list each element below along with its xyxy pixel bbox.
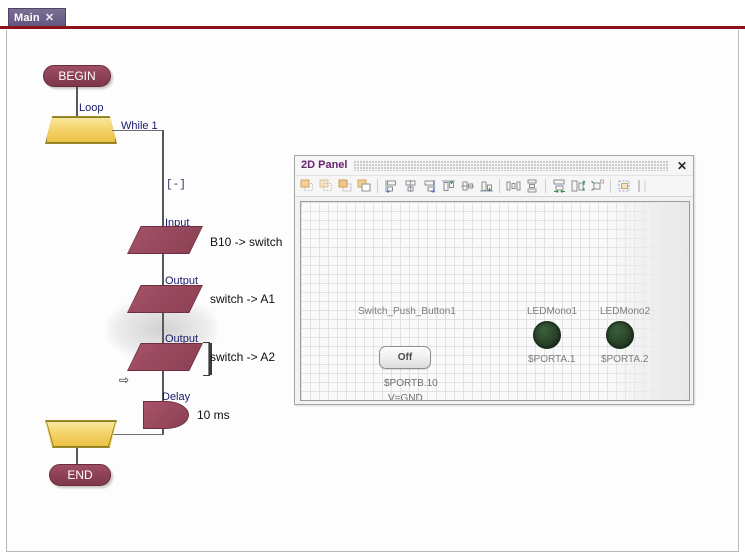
toolbar-separator — [377, 179, 378, 193]
make-same-width-icon[interactable] — [550, 178, 568, 195]
loop-end-block-fill — [47, 422, 115, 446]
send-to-back-icon[interactable] — [317, 178, 335, 195]
make-same-height-icon[interactable] — [569, 178, 587, 195]
2d-panel-toolbar[interactable] — [295, 176, 693, 197]
tab-strip-rule — [0, 26, 745, 29]
size-to-grid-icon[interactable] — [615, 178, 633, 195]
bring-forward-icon[interactable] — [336, 178, 354, 195]
widget-label-switch-push-button1: Switch_Push_Button1 — [358, 307, 456, 317]
toolbar-separator — [545, 179, 546, 193]
send-backward-icon[interactable] — [355, 178, 373, 195]
delay-block-fill — [144, 402, 188, 428]
loop-label: Loop — [79, 103, 103, 114]
toolbar-separator — [610, 179, 611, 193]
switch-push-button1[interactable]: Off — [379, 346, 431, 369]
2d-panel-title: 2D Panel — [301, 160, 347, 171]
drag-handle-cursor-icon: ⇨ — [119, 374, 129, 386]
connector-output1-to-output2 — [162, 313, 164, 345]
align-center-horizontal-icon[interactable] — [401, 178, 419, 195]
flowchart-loop-end-block[interactable] — [45, 420, 117, 448]
connector-loopback-horizontal — [111, 434, 164, 435]
align-left-icon[interactable] — [382, 178, 400, 195]
tab-strip: Main ✕ — [0, 0, 745, 28]
flowchart-canvas[interactable]: BEGIN Loop While 1 [-] Input B10 -> swit… — [6, 30, 739, 552]
2d-panel-titlebar[interactable]: 2D Panel ✕ — [295, 156, 693, 176]
block-expression-output-1: switch -> A1 — [210, 293, 275, 305]
align-middle-vertical-icon[interactable] — [458, 178, 476, 195]
block-expression-output-2: switch -> A2 — [210, 351, 275, 363]
ledmono2[interactable] — [606, 321, 634, 349]
widget-level-switch-push-button1: V=GND — [388, 394, 423, 401]
flowchart-begin-block[interactable]: BEGIN — [43, 65, 111, 87]
distribute-horizontal-icon[interactable] — [504, 178, 522, 195]
distribute-vertical-icon[interactable] — [523, 178, 541, 195]
flowchart-end-block[interactable]: END — [49, 464, 111, 486]
make-same-size-icon[interactable] — [588, 178, 606, 195]
toolbar-separator — [499, 179, 500, 193]
align-top-icon[interactable] — [439, 178, 457, 195]
snap-to-grid-icon[interactable] — [634, 178, 652, 195]
tab-main[interactable]: Main ✕ — [8, 8, 66, 27]
connector-begin-to-loop — [76, 87, 78, 116]
2d-panel-drawing-surface[interactable]: Switch_Push_Button1 Off $PORTB.10 V=GND … — [300, 201, 690, 401]
2d-panel-window[interactable]: 2D Panel ✕ — [294, 155, 694, 405]
flowchart-input-block[interactable] — [127, 226, 203, 254]
align-right-icon[interactable] — [420, 178, 438, 195]
close-icon[interactable]: ✕ — [675, 160, 689, 172]
switch-state-label: Off — [398, 352, 412, 363]
drag-grip-icon[interactable] — [354, 160, 667, 171]
bring-to-front-icon[interactable] — [298, 178, 316, 195]
grid-background — [301, 202, 689, 400]
while-label: While 1 — [121, 121, 158, 132]
flowchart-begin-label: BEGIN — [58, 69, 95, 83]
connector-branch-vertical — [162, 130, 164, 230]
loop-block-fill — [47, 118, 115, 142]
flowchart-output-block-2[interactable] — [127, 343, 203, 371]
close-icon[interactable]: ✕ — [45, 13, 54, 24]
widget-port-ledmono2: $PORTA.2 — [601, 355, 648, 365]
flowchart-delay-block[interactable] — [143, 401, 189, 429]
flowchart-output-block-1[interactable] — [127, 285, 203, 313]
ledmono1[interactable] — [533, 321, 561, 349]
tab-main-label: Main — [14, 13, 40, 24]
flowchart-loop-start-block[interactable] — [45, 116, 117, 144]
widget-port-ledmono1: $PORTA.1 — [528, 355, 575, 365]
align-bottom-icon[interactable] — [477, 178, 495, 195]
block-expression-input: B10 -> switch — [210, 236, 282, 248]
connector-input-to-output1 — [162, 254, 164, 286]
flowchart-end-label: END — [67, 468, 92, 482]
widget-label-ledmono1: LEDMono1 — [527, 307, 577, 317]
widget-label-ledmono2: LEDMono2 — [600, 307, 650, 317]
application-window: Main ✕ BEGIN Loop While 1 [-] Input — [0, 0, 745, 558]
collapse-toggle[interactable]: [-] — [166, 180, 186, 191]
expression-bracket — [203, 342, 210, 376]
block-expression-delay: 10 ms — [197, 409, 230, 421]
widget-port-switch-push-button1: $PORTB.10 — [384, 379, 438, 389]
